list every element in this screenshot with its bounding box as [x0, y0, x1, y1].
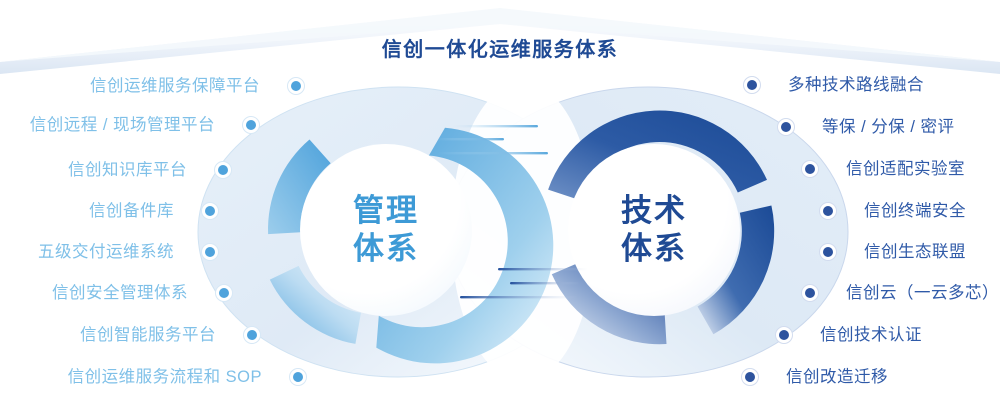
circle-node-icon[interactable]: [219, 288, 229, 298]
management-label-item[interactable]: 信创知识库平台: [0, 162, 187, 179]
technology-label-item[interactable]: 信创技术认证: [820, 327, 922, 344]
management-label-item[interactable]: 信创智能服务平台: [0, 327, 216, 344]
infographic-canvas: 信创一体化运维服务体系 管理 体系 技术 体系 信创运维服务保障平台信创远程 /…: [0, 0, 1000, 408]
management-label-item[interactable]: 信创运维服务保障平台: [0, 78, 260, 95]
circle-node-icon[interactable]: [247, 330, 257, 340]
technology-label-item[interactable]: 信创终端安全: [864, 203, 966, 220]
circle-node-icon[interactable]: [781, 122, 791, 132]
circle-node-icon[interactable]: [745, 372, 755, 382]
technology-label-item[interactable]: 多种技术路线融合: [788, 77, 924, 94]
technology-label-item[interactable]: 信创云（一云多芯）: [846, 285, 999, 302]
management-label-item[interactable]: 信创远程 / 现场管理平台: [0, 117, 215, 134]
technology-hub-label: 技术 体系: [621, 192, 687, 268]
circle-node-icon[interactable]: [205, 247, 215, 257]
management-hub-line2: 体系: [353, 230, 419, 268]
technology-label-item[interactable]: 信创适配实验室: [846, 161, 965, 178]
circle-node-icon[interactable]: [291, 81, 301, 91]
technology-hub-line1: 技术: [621, 192, 687, 230]
technology-label-item[interactable]: 信创改造迁移: [786, 369, 888, 386]
page-title: 信创一体化运维服务体系: [382, 33, 619, 62]
management-hub-label: 管理 体系: [353, 192, 419, 268]
management-hub-line1: 管理: [353, 192, 419, 230]
technology-label-item[interactable]: 等保 / 分保 / 密评: [822, 119, 955, 136]
circle-node-icon[interactable]: [779, 330, 789, 340]
circle-node-icon[interactable]: [747, 80, 757, 90]
circle-node-icon[interactable]: [246, 120, 256, 130]
circle-node-icon[interactable]: [205, 206, 215, 216]
circle-node-icon[interactable]: [805, 288, 815, 298]
circle-node-icon[interactable]: [293, 372, 303, 382]
technology-label-item[interactable]: 信创生态联盟: [864, 244, 966, 261]
management-label-item[interactable]: 五级交付运维系统: [0, 244, 174, 261]
circle-node-icon[interactable]: [823, 247, 833, 257]
circle-node-icon[interactable]: [805, 164, 815, 174]
management-label-item[interactable]: 信创安全管理体系: [0, 285, 188, 302]
management-label-item[interactable]: 信创运维服务流程和 SOP: [0, 369, 262, 386]
circle-node-icon[interactable]: [823, 206, 833, 216]
technology-hub-line2: 体系: [621, 230, 687, 268]
circle-node-icon[interactable]: [218, 165, 228, 175]
management-label-item[interactable]: 信创备件库: [0, 203, 174, 220]
